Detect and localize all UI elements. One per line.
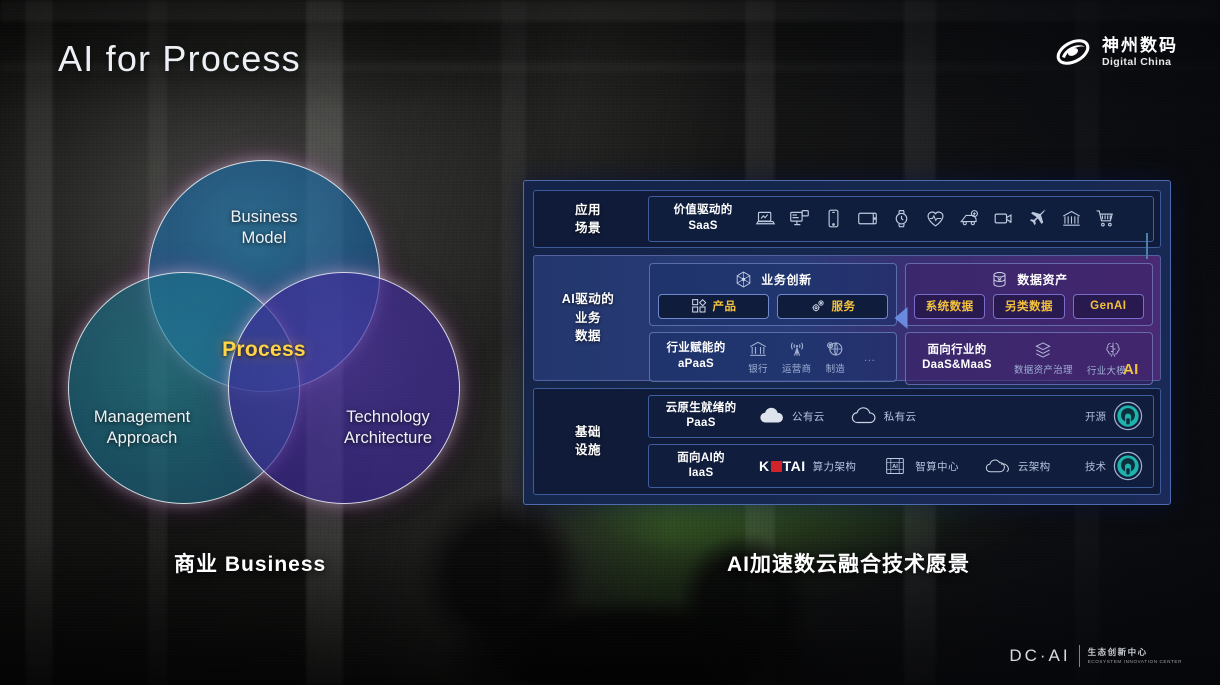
iaas-items: K TAI 算力架构 AI 智算中心 云架构 [759,456,1069,476]
chip-genai-label: GenAI [1090,300,1126,312]
car-service-icon [959,208,980,229]
cloud-outline-icon [851,406,877,426]
band-body-application: 价值驱动的SaaS [642,191,1160,247]
iaas-caption-cloud-arch: 云架构 [1018,459,1051,474]
paas-item-private-cloud: 私有云 [851,406,917,426]
data-layers-icon [1033,340,1053,360]
iaas-caption-compute: 算力架构 [813,459,857,474]
architecture-panel: 应用场景 价值驱动的SaaS [523,180,1171,505]
kuntai-logo: K TAI [759,458,806,474]
heartbeat-icon [925,208,946,229]
kuntai-logo-suffix: TAI [783,458,806,474]
chip-product[interactable]: 产品 [658,294,769,319]
cloud-filled-icon [759,406,785,426]
paas-item-public-cloud: 公有云 [759,406,825,426]
footer-name-cn: 生态创新中心 [1088,648,1182,657]
euler-connector-line [1146,233,1148,259]
multi-cloud-icon [985,456,1011,476]
saas-strip: 价值驱动的SaaS [648,196,1154,242]
openeuler-icon [1113,451,1143,481]
business-innovation-box: 业务创新 产品 服务 [649,263,897,326]
venn-center-label: Process [202,298,326,402]
industry-model-ai-suffix: AI [1123,361,1139,378]
center-arrow-icon [895,307,908,329]
apaas-row: 行业赋能的aPaaS 银行 运营商 [658,339,888,375]
business-innovation-title: 业务创新 [761,271,811,288]
iaas-item-ai-datacenter: AI 智算中心 [882,456,959,476]
caption-business: 商业 Business [174,548,326,578]
chip-alternative-data-label: 另类数据 [1005,298,1053,314]
shopping-cart-icon [1095,208,1116,229]
brain-circuit-icon [1103,339,1123,359]
data-assets-chips: 系统数据 另类数据 GenAI [914,294,1144,319]
paas-opensource-group: 开源 [1085,401,1143,431]
venn-diagram: BusinessModel ManagementApproach Technol… [62,152,462,512]
footer-dc-ai-label: DC·AI [1009,646,1070,666]
apaas-item-manufacturing: 制造 [825,339,845,375]
daas-item-governance: 数据资产治理 [1014,340,1073,376]
iaas-caption-ai-datacenter: 智算中心 [915,459,959,474]
slide-canvas: AI for Process 神州数码 Digital China Busine… [0,0,1220,685]
footer-name-en: ECOSYSTEM INNOVATION CENTER [1088,659,1182,664]
svg-text:AI: AI [892,464,898,470]
business-innovation-chips: 产品 服务 [658,294,888,319]
paas-opensource-caption: 开源 [1085,409,1106,424]
chip-system-data[interactable]: 系统数据 [914,294,985,319]
apaas-item-bank: 银行 [748,339,768,375]
apaas-caption-bank: 银行 [748,361,768,375]
band-label-ai-driven: AI驱动的 业务 数据 [534,256,642,380]
brand-logo: 神州数码 Digital China [1053,34,1178,70]
iaas-tech-group: 技术 [1085,451,1143,481]
iaas-strip: 面向AI的IaaS K TAI 算力架构 AI [648,444,1154,488]
page-title: AI for Process [58,38,301,80]
chip-genai[interactable]: GenAI [1073,294,1144,319]
data-assets-box: 数据资产 系统数据 另类数据 GenAI [905,263,1153,326]
airplane-icon [1027,208,1048,229]
smartphone-icon [823,208,844,229]
ai-datacenter-icon: AI [882,456,908,476]
data-assets-header: 数据资产 [914,270,1144,289]
venn-label-technology-architecture: TechnologyArchitecture [344,407,432,448]
band-label-application-scenarios: 应用场景 [534,191,642,247]
apaas-title: 行业赋能的aPaaS [658,341,734,372]
application-icon-row [755,208,1141,229]
apaas-ellipsis: … [863,350,877,364]
bank-icon [1061,208,1082,229]
paas-caption-private-cloud: 私有云 [884,409,917,424]
footer-brand-mark: DC·AI 生态创新中心 ECOSYSTEM INNOVATION CENTER [1009,645,1182,667]
apaas-item-carrier: 运营商 [782,339,811,375]
business-innovation-header: 业务创新 [658,270,888,289]
paas-items: 公有云 私有云 [759,406,1069,426]
daas-maas-box: 面向行业的DaaS&MaaS 数据资产治理 行业大模AI [905,332,1153,385]
daas-maas-title: 面向行业的DaaS&MaaS [914,343,1000,374]
gear-globe-icon [825,339,845,359]
iaas-item-kuntai: K TAI 算力架构 [759,458,856,474]
openeuler-icon [1113,401,1143,431]
venn-label-business-model: BusinessModel [231,207,298,248]
band-ai-driven-business-data: AI驱动的 业务 数据 [533,255,1161,381]
kuntai-logo-prefix: K [759,458,770,474]
blocks-icon [691,298,707,314]
chip-service-label: 服务 [832,298,856,314]
apaas-caption-manufacturing: 制造 [826,361,846,375]
chip-alternative-data[interactable]: 另类数据 [993,294,1064,319]
daas-item-industry-model: 行业大模AI [1087,339,1139,378]
iaas-tech-caption: 技术 [1085,459,1106,474]
brand-name-en: Digital China [1102,57,1178,68]
daas-caption-industry-model: 行业大模AI [1087,361,1139,378]
band-label-infrastructure: 基础设施 [534,389,642,494]
desktop-media-icon [789,208,810,229]
band-body-infrastructure: 云原生就绪的PaaS 公有云 私有云 开源 [642,389,1160,494]
chip-service[interactable]: 服务 [777,294,888,319]
video-camera-icon [993,208,1014,229]
paas-title: 云原生就绪的PaaS [659,401,743,432]
brand-name-cn: 神州数码 [1102,37,1178,54]
brand-text: 神州数码 Digital China [1102,37,1178,68]
daas-caption-governance: 数据资产治理 [1014,362,1073,376]
daas-maas-row: 面向行业的DaaS&MaaS 数据资产治理 行业大模AI [914,339,1144,378]
band-application-scenarios: 应用场景 价值驱动的SaaS [533,190,1161,248]
band-infrastructure: 基础设施 云原生就绪的PaaS 公有云 私有云 [533,388,1161,495]
saas-title: 价值驱动的SaaS [661,203,745,234]
data-assets-title: 数据资产 [1017,271,1067,288]
tablet-icon [857,208,878,229]
chip-system-data-label: 系统数据 [926,298,974,314]
ai-columns: 业务创新 产品 服务 [642,256,1160,380]
bank-icon [748,339,768,359]
kuntai-logo-mark [771,461,782,472]
smartwatch-icon [891,208,912,229]
laptop-analytics-icon [755,208,776,229]
iaas-title: 面向AI的IaaS [659,451,743,482]
paas-strip: 云原生就绪的PaaS 公有云 私有云 开源 [648,395,1154,439]
digital-china-spiral-icon [1053,34,1093,70]
ai-column-business-innovation: 业务创新 产品 服务 [649,263,897,373]
footer-text: 生态创新中心 ECOSYSTEM INNOVATION CENTER [1088,648,1182,664]
database-yuan-icon [990,270,1009,289]
apaas-box: 行业赋能的aPaaS 银行 运营商 [649,332,897,382]
antenna-tower-icon [787,339,807,359]
cube-network-icon [734,270,753,289]
gears-icon [810,298,826,314]
ai-column-data-assets: 数据资产 系统数据 另类数据 GenAI [905,263,1153,373]
paas-caption-public-cloud: 公有云 [792,409,825,424]
iaas-item-cloud-arch: 云架构 [985,456,1051,476]
chip-product-label: 产品 [713,298,737,314]
venn-label-management-approach: ManagementApproach [94,407,190,448]
apaas-caption-carrier: 运营商 [782,361,811,375]
footer-divider [1079,645,1080,667]
caption-tech-vision: AI加速数云融合技术愿景 [727,548,970,578]
